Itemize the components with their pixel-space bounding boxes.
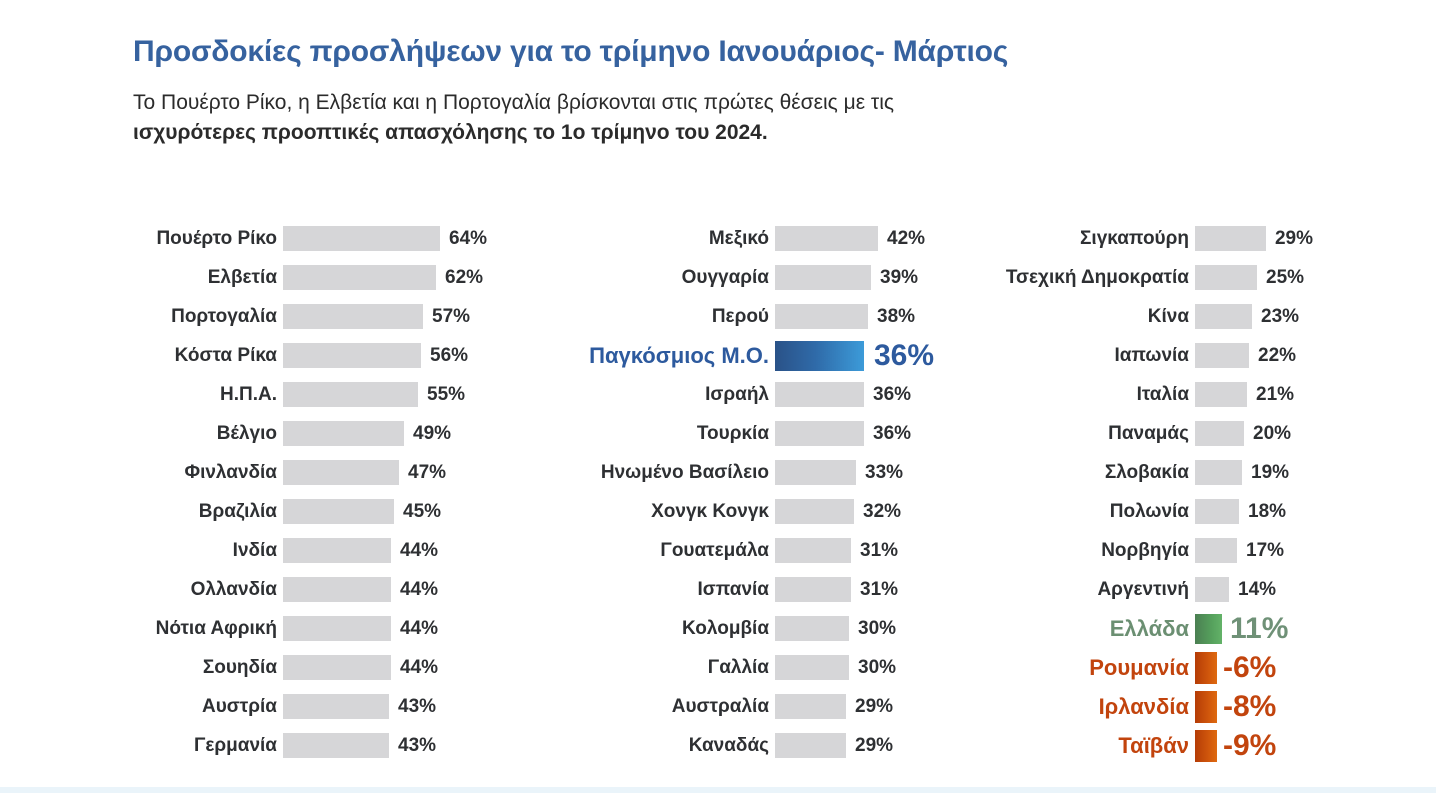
bar-value-label: 30%: [849, 618, 896, 640]
bar-track: 31%: [775, 570, 973, 609]
bar-value-label: 29%: [846, 696, 893, 718]
bar-row-label: Πουέρτο Ρίκο: [133, 228, 283, 250]
bar-value-label: 30%: [849, 657, 896, 679]
bar: [283, 304, 423, 329]
bar-row-label: Η.Π.Α.: [133, 384, 283, 406]
bar: [283, 226, 440, 251]
bar-row: Η.Π.Α.55%: [133, 375, 553, 414]
bar-row: Αργεντινή14%: [973, 570, 1313, 609]
bar: [1195, 304, 1252, 329]
subtitle-line-2: ισχυρότερες προοπτικές απασχόλησης το 1ο…: [133, 118, 1313, 148]
bar-value-label: 11%: [1222, 612, 1288, 646]
bar: [775, 304, 868, 329]
bar-row-label: Ρουμανία: [973, 655, 1195, 681]
bar-row: Βέλγιο49%: [133, 414, 553, 453]
bar: [1195, 499, 1239, 524]
bar-value-label: 29%: [1266, 228, 1313, 250]
bar-track: 29%: [775, 726, 973, 765]
bar: [283, 538, 391, 563]
footer-strip: [0, 787, 1436, 793]
chart-column-2: Σιγκαπούρη29%Τσεχική Δημοκρατία25%Κίνα23…: [973, 219, 1313, 765]
bar-value-label: 14%: [1229, 579, 1276, 601]
bar-row: Σιγκαπούρη29%: [973, 219, 1313, 258]
bar-row-label: Σουηδία: [133, 657, 283, 679]
bar-row: Κίνα23%: [973, 297, 1313, 336]
bar-row: Βραζιλία45%: [133, 492, 553, 531]
bar-row-label: Τουρκία: [553, 423, 775, 445]
bar-row-label: Περού: [553, 306, 775, 328]
bar: [283, 382, 418, 407]
bar-row: Περού38%: [553, 297, 973, 336]
bar-track: 62%: [283, 258, 553, 297]
bar-row: Σλοβακία19%: [973, 453, 1313, 492]
bar-track: 30%: [775, 648, 973, 687]
bar: [283, 499, 394, 524]
bar-row-label: Πορτογαλία: [133, 306, 283, 328]
bar-track: 64%: [283, 219, 553, 258]
bar-track: 17%: [1195, 531, 1313, 570]
bar-row: Ελλάδα11%: [973, 609, 1313, 648]
bar-row-label: Ιαπωνία: [973, 345, 1195, 367]
bar-row-label: Γερμανία: [133, 735, 283, 757]
bar-value-label: 62%: [436, 267, 483, 289]
bar-row-label: Καναδάς: [553, 735, 775, 757]
bar-track: 44%: [283, 531, 553, 570]
bar-row-label: Μεξικό: [553, 228, 775, 250]
bar: [775, 616, 849, 641]
bar: [775, 655, 849, 680]
bar-value-label: 20%: [1244, 423, 1291, 445]
bar-row-label: Ισπανία: [553, 579, 775, 601]
bar: [775, 733, 846, 758]
bar-track: 20%: [1195, 414, 1313, 453]
bar-row-label: Γουατεμάλα: [553, 540, 775, 562]
bar-track: -6%: [1195, 648, 1313, 687]
bar-track: 36%: [775, 375, 973, 414]
bar-row: Φινλανδία47%: [133, 453, 553, 492]
bar-row: Τσεχική Δημοκρατία25%: [973, 258, 1313, 297]
bar-value-label: 47%: [399, 462, 446, 484]
bar: [283, 343, 421, 368]
bar-row-label: Ισραήλ: [553, 384, 775, 406]
bar-row-label: Σιγκαπούρη: [973, 228, 1195, 250]
bar-row: Καναδάς29%: [553, 726, 973, 765]
bar-row: Κολομβία30%: [553, 609, 973, 648]
bar-row-label: Κίνα: [973, 306, 1195, 328]
bar-track: 11%: [1195, 609, 1313, 648]
bar-value-label: 19%: [1242, 462, 1289, 484]
bar-row: Γερμανία43%: [133, 726, 553, 765]
bar-value-label: 22%: [1249, 345, 1296, 367]
bar-track: 33%: [775, 453, 973, 492]
bar-row-label: Παγκόσμιος Μ.Ο.: [553, 343, 775, 369]
bar-row-label: Βραζιλία: [133, 501, 283, 523]
bar: [775, 538, 851, 563]
bar-row: Πορτογαλία57%: [133, 297, 553, 336]
bar-row-label: Βέλγιο: [133, 423, 283, 445]
bar-value-label: 38%: [868, 306, 915, 328]
bar-row: Πολωνία18%: [973, 492, 1313, 531]
bar-value-label: 45%: [394, 501, 441, 523]
bar-value-label: 29%: [846, 735, 893, 757]
bar-row: Γαλλία30%: [553, 648, 973, 687]
bar: [283, 460, 399, 485]
bar-value-label: 36%: [864, 423, 911, 445]
bar-row: Νορβηγία17%: [973, 531, 1313, 570]
bar: [283, 655, 391, 680]
bar: [775, 694, 846, 719]
bar-row-label: Νορβηγία: [973, 540, 1195, 562]
bar-track: 19%: [1195, 453, 1313, 492]
bar: [283, 421, 404, 446]
bar: [283, 694, 389, 719]
bar-row: Ουγγαρία39%: [553, 258, 973, 297]
bar-row: Παγκόσμιος Μ.Ο.36%: [553, 336, 973, 375]
chart-column-1: Μεξικό42%Ουγγαρία39%Περού38%Παγκόσμιος Μ…: [553, 219, 973, 765]
bar-row-label: Αυστρία: [133, 696, 283, 718]
bar: [1195, 577, 1229, 602]
bar-row-label: Αργεντινή: [973, 579, 1195, 601]
bar-row: Τουρκία36%: [553, 414, 973, 453]
bar: [1195, 265, 1257, 290]
bar-row-label: Παναμάς: [973, 423, 1195, 445]
bar-value-label: 56%: [421, 345, 468, 367]
bar: [775, 499, 854, 524]
bar: [1195, 614, 1222, 644]
bar-value-label: -6%: [1217, 651, 1276, 685]
bar-value-label: 57%: [423, 306, 470, 328]
bar: [775, 382, 864, 407]
bar-row-label: Ηνωμένο Βασίλειο: [553, 462, 775, 484]
bar-value-label: 64%: [440, 228, 487, 250]
bar-row-label: Κόστα Ρίκα: [133, 345, 283, 367]
bar-track: 43%: [283, 687, 553, 726]
bar-row-label: Ινδία: [133, 540, 283, 562]
bar-track: 44%: [283, 570, 553, 609]
bar-track: 44%: [283, 609, 553, 648]
bar: [775, 460, 856, 485]
bar-track: 56%: [283, 336, 553, 375]
bar: [1195, 652, 1217, 684]
bar-value-label: 42%: [878, 228, 925, 250]
bar-row: Νότια Αφρική44%: [133, 609, 553, 648]
bar: [1195, 730, 1217, 762]
bar: [775, 421, 864, 446]
bar-value-label: -9%: [1217, 729, 1276, 763]
bar-value-label: 21%: [1247, 384, 1294, 406]
bar: [1195, 691, 1217, 723]
bar-row: Παναμάς20%: [973, 414, 1313, 453]
bar-value-label: 18%: [1239, 501, 1286, 523]
chart-header: Προσδοκίες προσλήψεων για το τρίμηνο Ιαν…: [133, 34, 1313, 149]
bar-row-label: Ιρλανδία: [973, 694, 1195, 720]
bar: [1195, 382, 1247, 407]
bar-track: 30%: [775, 609, 973, 648]
bar: [283, 616, 391, 641]
bar-track: 36%: [775, 336, 973, 375]
bar-value-label: 31%: [851, 579, 898, 601]
bar-value-label: 36%: [864, 339, 934, 373]
bar-row: Αυστρία43%: [133, 687, 553, 726]
page-title: Προσδοκίες προσλήψεων για το τρίμηνο Ιαν…: [133, 34, 1313, 70]
bar-row: Χονγκ Κονγκ32%: [553, 492, 973, 531]
bar-value-label: 44%: [391, 618, 438, 640]
bar: [283, 733, 389, 758]
bar-row-label: Ελλάδα: [973, 616, 1195, 642]
bar: [1195, 343, 1249, 368]
bar: [1195, 460, 1242, 485]
bar-track: 32%: [775, 492, 973, 531]
bar: [1195, 538, 1237, 563]
bar: [775, 265, 871, 290]
bar-track: 29%: [1195, 219, 1313, 258]
bar-track: 25%: [1195, 258, 1313, 297]
bar-track: 36%: [775, 414, 973, 453]
bar-track: 55%: [283, 375, 553, 414]
bar-row-label: Χονγκ Κονγκ: [553, 501, 775, 523]
bar-row-label: Νότια Αφρική: [133, 618, 283, 640]
bar: [283, 577, 391, 602]
bar-value-label: 43%: [389, 735, 436, 757]
chart-page: Προσδοκίες προσλήψεων για το τρίμηνο Ιαν…: [0, 0, 1436, 793]
bar: [1195, 226, 1266, 251]
bar-value-label: 25%: [1257, 267, 1304, 289]
bar-row-label: Γαλλία: [553, 657, 775, 679]
bar-row-label: Ταϊβάν: [973, 733, 1195, 759]
bar-row-label: Τσεχική Δημοκρατία: [973, 267, 1195, 289]
bar-row-label: Φινλανδία: [133, 462, 283, 484]
bar-track: -9%: [1195, 726, 1313, 765]
bar-row: Ιρλανδία-8%: [973, 687, 1313, 726]
bar-track: 49%: [283, 414, 553, 453]
bar-value-label: -8%: [1217, 690, 1276, 724]
bar-row: Ταϊβάν-9%: [973, 726, 1313, 765]
bar-track: 21%: [1195, 375, 1313, 414]
bar-track: 29%: [775, 687, 973, 726]
bar-track: 18%: [1195, 492, 1313, 531]
bar-row-label: Πολωνία: [973, 501, 1195, 523]
bar-value-label: 44%: [391, 657, 438, 679]
bar-track: 42%: [775, 219, 973, 258]
bar: [775, 577, 851, 602]
chart-subtitle: Το Πουέρτο Ρίκο, η Ελβετία και η Πορτογα…: [133, 70, 1313, 149]
bar-row-label: Αυστραλία: [553, 696, 775, 718]
bar-row: Γουατεμάλα31%: [553, 531, 973, 570]
bar-track: 23%: [1195, 297, 1313, 336]
bar-track: 39%: [775, 258, 973, 297]
bar-row: Κόστα Ρίκα56%: [133, 336, 553, 375]
bar-row: Ελβετία62%: [133, 258, 553, 297]
chart-column-0: Πουέρτο Ρίκο64%Ελβετία62%Πορτογαλία57%Κό…: [133, 219, 553, 765]
bar-row: Ηνωμένο Βασίλειο33%: [553, 453, 973, 492]
bar-row: Ιταλία21%: [973, 375, 1313, 414]
bar: [1195, 421, 1244, 446]
bar-value-label: 23%: [1252, 306, 1299, 328]
bar-row: Ισπανία31%: [553, 570, 973, 609]
bar: [283, 265, 436, 290]
subtitle-line-1: Το Πουέρτο Ρίκο, η Ελβετία και η Πορτογα…: [133, 88, 1313, 118]
bar-track: 22%: [1195, 336, 1313, 375]
bar-track: 31%: [775, 531, 973, 570]
bar-value-label: 31%: [851, 540, 898, 562]
bar-row-label: Ιταλία: [973, 384, 1195, 406]
bar-track: 57%: [283, 297, 553, 336]
bar-row: Σουηδία44%: [133, 648, 553, 687]
bar-track: 44%: [283, 648, 553, 687]
bar-row: Ινδία44%: [133, 531, 553, 570]
chart-columns: Πουέρτο Ρίκο64%Ελβετία62%Πορτογαλία57%Κό…: [0, 219, 1436, 765]
bar-row-label: Κολομβία: [553, 618, 775, 640]
bar-row: Ιαπωνία22%: [973, 336, 1313, 375]
bar-value-label: 33%: [856, 462, 903, 484]
bar-value-label: 32%: [854, 501, 901, 523]
bar-track: 38%: [775, 297, 973, 336]
bar-track: 45%: [283, 492, 553, 531]
bar-value-label: 36%: [864, 384, 911, 406]
bar-track: 47%: [283, 453, 553, 492]
bar-row-label: Σλοβακία: [973, 462, 1195, 484]
bar-row-label: Ολλανδία: [133, 579, 283, 601]
bar-row-label: Ουγγαρία: [553, 267, 775, 289]
bar-value-label: 44%: [391, 540, 438, 562]
bar-value-label: 55%: [418, 384, 465, 406]
bar-row: Ισραήλ36%: [553, 375, 973, 414]
bar-value-label: 43%: [389, 696, 436, 718]
bar-value-label: 44%: [391, 579, 438, 601]
bar-row-label: Ελβετία: [133, 267, 283, 289]
bar-row: Αυστραλία29%: [553, 687, 973, 726]
bar-value-label: 39%: [871, 267, 918, 289]
bar-track: 43%: [283, 726, 553, 765]
bar-value-label: 49%: [404, 423, 451, 445]
bar-row: Ρουμανία-6%: [973, 648, 1313, 687]
bar-value-label: 17%: [1237, 540, 1284, 562]
bar-row: Μεξικό42%: [553, 219, 973, 258]
bar-track: -8%: [1195, 687, 1313, 726]
bar-row: Πουέρτο Ρίκο64%: [133, 219, 553, 258]
bar: [775, 341, 864, 371]
bar: [775, 226, 878, 251]
bar-row: Ολλανδία44%: [133, 570, 553, 609]
bar-track: 14%: [1195, 570, 1313, 609]
